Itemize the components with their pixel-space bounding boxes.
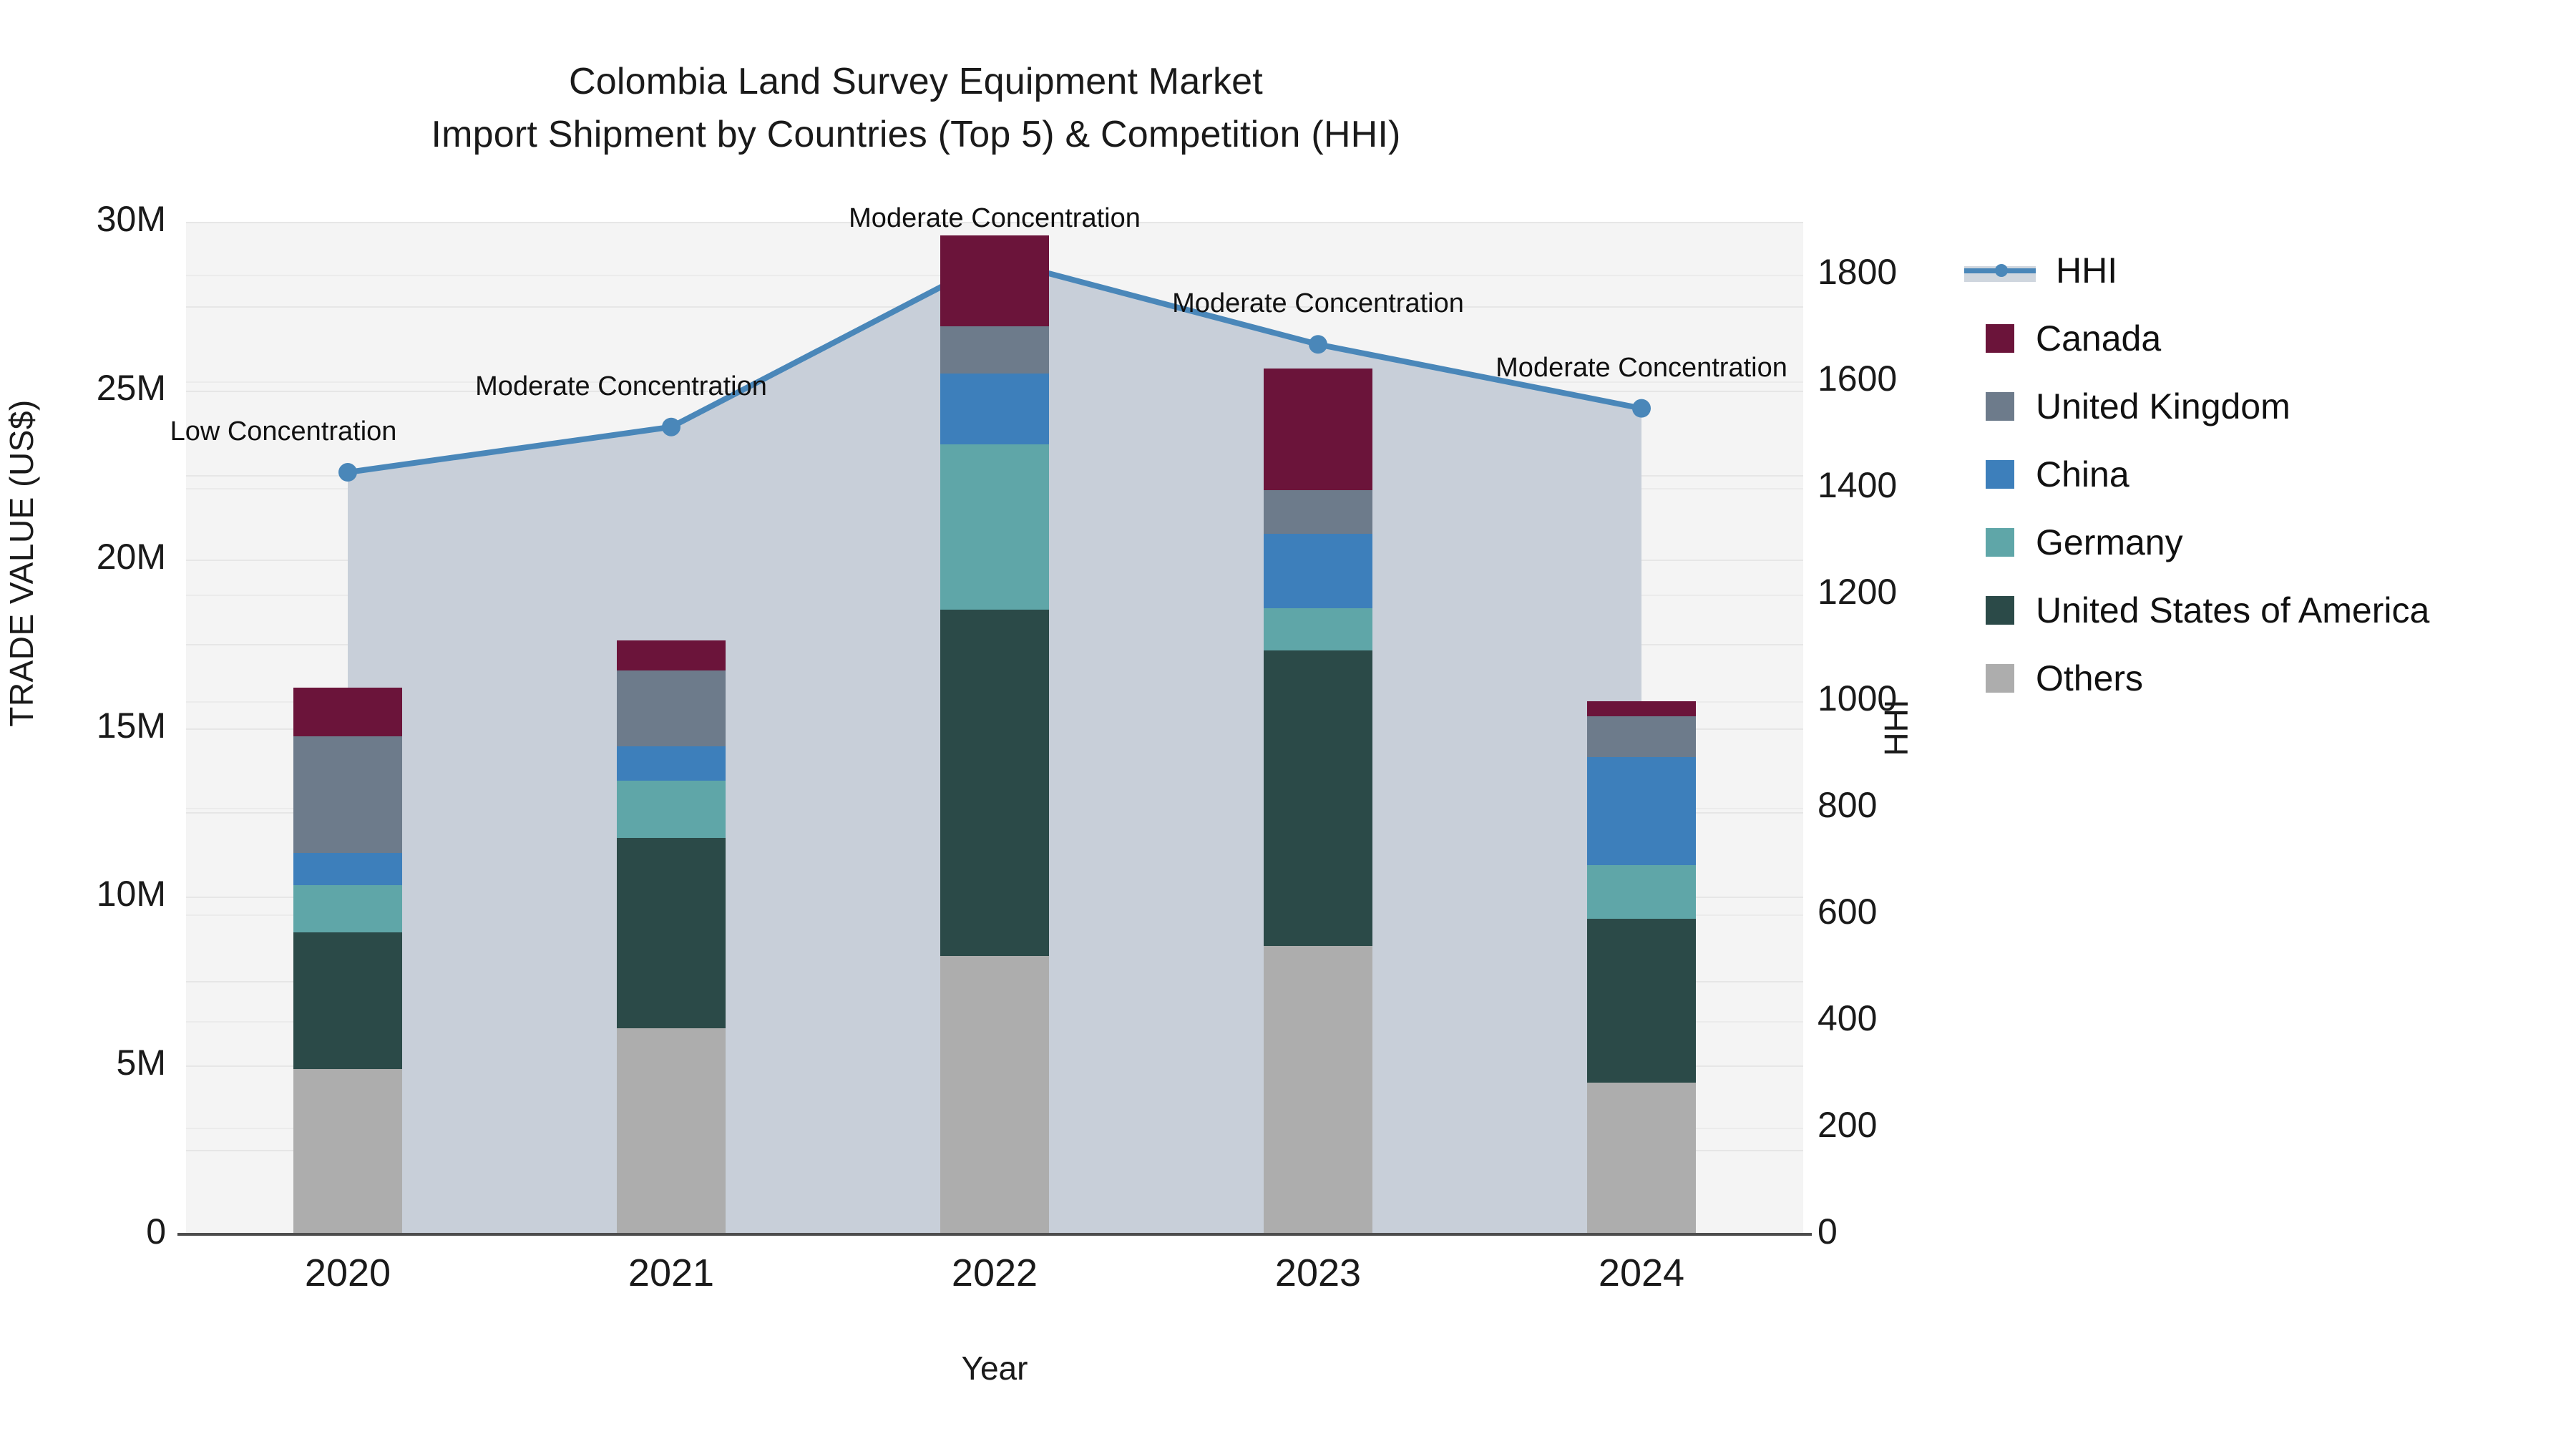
annotation-label: Low Concentration	[170, 416, 397, 447]
bar-segment[interactable]	[617, 781, 726, 838]
bar-2024[interactable]	[1587, 701, 1696, 1234]
hhi-data-point[interactable]	[1632, 399, 1651, 418]
bar-segment[interactable]	[940, 326, 1049, 374]
y-axis-left-title: TRADE VALUE (US$)	[2, 277, 41, 849]
legend-item-label: China	[2036, 454, 2129, 495]
y-axis-right-tick: 1800	[1818, 251, 1897, 293]
bar-segment[interactable]	[1264, 608, 1372, 650]
bar-segment[interactable]	[293, 736, 402, 853]
bar-segment[interactable]	[940, 444, 1049, 610]
bar-segment[interactable]	[940, 610, 1049, 955]
bar-segment[interactable]	[1587, 919, 1696, 1083]
x-axis-tick-2020: 2020	[240, 1251, 455, 1295]
legend-item-label: Others	[2036, 658, 2143, 699]
y-axis-right-tick: 800	[1818, 784, 1877, 826]
legend-swatch-icon	[1986, 596, 2014, 625]
bar-segment[interactable]	[617, 746, 726, 780]
legend-item-hhi[interactable]: HHI	[1964, 236, 2551, 304]
bar-segment[interactable]	[617, 640, 726, 670]
hhi-data-point[interactable]	[1309, 335, 1327, 353]
bar-segment[interactable]	[1587, 1083, 1696, 1234]
hhi-data-point[interactable]	[338, 463, 357, 482]
y-axis-left-tick: 0	[0, 1211, 166, 1252]
bar-segment[interactable]	[617, 670, 726, 746]
legend-item-united-states-of-america[interactable]: United States of America	[1964, 576, 2551, 644]
y-axis-right-tick: 1200	[1818, 571, 1897, 613]
legend-item-label: Germany	[2036, 522, 2183, 563]
bar-2021[interactable]	[617, 640, 726, 1234]
legend-item-label: HHI	[2056, 250, 2117, 291]
legend-item-others[interactable]: Others	[1964, 644, 2551, 712]
annotation-label: Moderate Concentration	[1496, 353, 1787, 384]
bar-segment[interactable]	[940, 235, 1049, 326]
legend-swatch-icon	[1986, 664, 2014, 693]
bar-segment[interactable]	[1587, 716, 1696, 757]
y-axis-right-tick: 400	[1818, 997, 1877, 1039]
annotation-label: Moderate Concentration	[849, 203, 1141, 234]
bar-segment[interactable]	[293, 688, 402, 736]
legend-item-united-kingdom[interactable]: United Kingdom	[1964, 372, 2551, 440]
legend-item-label: Canada	[2036, 318, 2161, 359]
legend-swatch-icon	[1986, 392, 2014, 421]
legend: HHICanadaUnited KingdomChinaGermanyUnite…	[1964, 236, 2551, 712]
legend-item-label: United States of America	[2036, 590, 2429, 631]
bar-segment[interactable]	[1587, 757, 1696, 865]
y-axis-left-tick: 10M	[0, 873, 166, 914]
chart-canvas: Colombia Land Survey Equipment Market Im…	[0, 0, 2576, 1449]
hhi-data-point[interactable]	[662, 418, 680, 436]
bar-segment[interactable]	[1587, 865, 1696, 919]
bar-segment[interactable]	[617, 838, 726, 1028]
legend-line-marker-icon	[1964, 256, 2036, 285]
y-axis-right-tick: 1400	[1818, 464, 1897, 506]
bar-segment[interactable]	[293, 932, 402, 1069]
x-axis-line	[177, 1233, 1812, 1236]
bar-2023[interactable]	[1264, 369, 1372, 1234]
y-axis-right-tick: 0	[1818, 1211, 1838, 1252]
annotation-label: Moderate Concentration	[1172, 288, 1464, 319]
bar-segment[interactable]	[1264, 946, 1372, 1234]
x-axis-tick-2023: 2023	[1211, 1251, 1425, 1295]
x-axis-title: Year	[809, 1349, 1181, 1387]
x-axis-tick-2022: 2022	[887, 1251, 1102, 1295]
annotation-label: Moderate Concentration	[475, 371, 767, 402]
legend-swatch-icon	[1986, 460, 2014, 489]
y-axis-right-tick: 600	[1818, 891, 1877, 932]
bar-segment[interactable]	[293, 1069, 402, 1234]
legend-swatch-icon	[1986, 528, 2014, 557]
y-axis-left-tick: 30M	[0, 198, 166, 240]
legend-item-label: United Kingdom	[2036, 386, 2290, 427]
x-axis-tick-2024: 2024	[1534, 1251, 1749, 1295]
bar-segment[interactable]	[293, 853, 402, 885]
bar-segment[interactable]	[1264, 534, 1372, 608]
bar-2020[interactable]	[293, 688, 402, 1234]
title-line-2: Import Shipment by Countries (Top 5) & C…	[0, 109, 1832, 162]
y-axis-left-tick: 5M	[0, 1042, 166, 1083]
page-title: Colombia Land Survey Equipment Market Im…	[0, 56, 1832, 162]
x-axis-tick-2021: 2021	[564, 1251, 779, 1295]
bar-segment[interactable]	[293, 885, 402, 932]
bar-segment[interactable]	[1264, 490, 1372, 534]
y-axis-right-tick: 200	[1818, 1104, 1877, 1146]
legend-item-canada[interactable]: Canada	[1964, 304, 2551, 372]
legend-item-germany[interactable]: Germany	[1964, 508, 2551, 576]
legend-swatch-icon	[1986, 324, 2014, 353]
bar-2022[interactable]	[940, 235, 1049, 1234]
bar-segment[interactable]	[940, 374, 1049, 444]
legend-item-china[interactable]: China	[1964, 440, 2551, 508]
bar-segment[interactable]	[1264, 650, 1372, 946]
bar-segment[interactable]	[617, 1028, 726, 1234]
y-axis-right-title: HHI	[1877, 620, 1916, 835]
y-axis-right-tick: 1600	[1818, 358, 1897, 399]
bar-segment[interactable]	[1264, 369, 1372, 490]
title-line-1: Colombia Land Survey Equipment Market	[0, 56, 1832, 109]
bar-segment[interactable]	[940, 956, 1049, 1234]
bar-segment[interactable]	[1587, 701, 1696, 716]
